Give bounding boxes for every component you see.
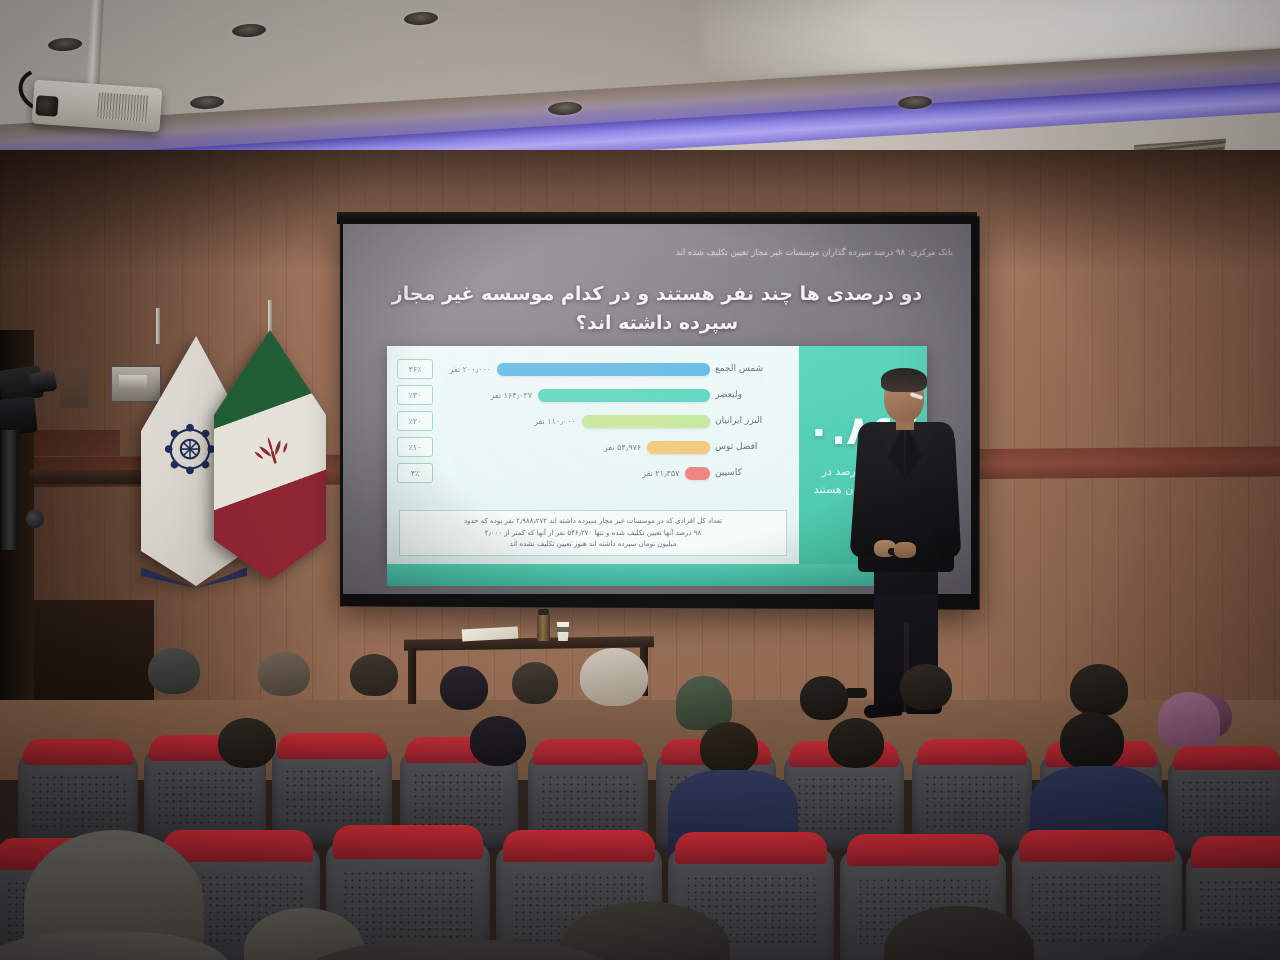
flagpole-iran (268, 300, 272, 332)
slide-title: دو درصدی ها چند نفر هستند و در کدام موسس… (377, 280, 937, 339)
audience-head (148, 648, 200, 694)
bar-label: افضل توس (710, 442, 789, 452)
bar-track: ١١٠٫٠٠٠ نفر (437, 415, 710, 428)
bar-row: ولیعصر ١۶۴٫٠٣٧ نفر ٣٠٪ (397, 384, 789, 406)
bar-count: ٢٠٠٫٠٠٠ نفر (449, 365, 491, 374)
cup-band (557, 627, 569, 632)
footnote-line-1: تعداد کل افرادی که در موسسات غیر مجاز سپ… (407, 516, 779, 527)
presenter-hair (881, 368, 927, 392)
camera-lens-icon (29, 370, 58, 393)
audience-head (1070, 664, 1128, 716)
bar-row: البرز ایرانیان ١١٠٫٠٠٠ نفر ٢٠٪ (397, 410, 789, 432)
audience-head (828, 718, 884, 768)
tripod-column (2, 430, 18, 550)
wall-right-shadow (960, 150, 1280, 710)
bar-percent-chip: ۴٪ (397, 463, 433, 483)
audience-head (350, 654, 398, 696)
projector-vent-grille (97, 92, 149, 121)
bar-label: البرز ایرانیان (710, 416, 789, 426)
bar-label: شمس الجمع (710, 364, 789, 374)
bar-label: ولیعصر (710, 390, 789, 400)
bar-percent-chip: ١٠٪ (397, 437, 433, 457)
bar-fill (647, 441, 710, 454)
bar-row: کاسپین ٢١٫٣۵٧ نفر ۴٪ (397, 462, 789, 484)
projector-lens (35, 95, 58, 116)
chart-footnote: تعداد کل افرادی که در موسسات غیر مجاز سپ… (399, 510, 787, 556)
presenter-arm-right (929, 429, 962, 558)
bar-fill (497, 363, 710, 376)
slide-title-line-2: سپرده داشته اند؟ (377, 309, 937, 338)
bar-percent-chip: ٣٠٪ (397, 385, 433, 405)
audience-head (258, 652, 310, 696)
slide-chart-card: ٪٠.٨۶ از این دو درصد در استان خراسان هست… (387, 346, 927, 564)
bar-label: کاسپین (710, 468, 789, 478)
audience-head (440, 666, 488, 710)
university-emblem-icon (159, 420, 221, 482)
audience-head (470, 716, 526, 766)
audience-head (218, 718, 276, 768)
audience-head (900, 664, 952, 710)
bar-fill (685, 467, 710, 480)
card-bottom-band (387, 564, 927, 586)
bar-track: ٢١٫٣۵٧ نفر (437, 467, 710, 480)
bar-track: ۵۴٫٩٧۶ نفر (437, 441, 710, 454)
bar-count: ٢١٫٣۵٧ نفر (642, 469, 679, 478)
audience-head (580, 648, 648, 706)
bar-track: ١۶۴٫٠٣٧ نفر (437, 389, 710, 402)
bar-fill (582, 415, 710, 428)
audience-head (512, 662, 558, 704)
audience-head (800, 676, 848, 720)
slide-kicker-text: بانک مرکزی: ۹۸ درصد سپرده گذاران موسسات … (573, 248, 953, 260)
bar-track: ٢٠٠٫٠٠٠ نفر (437, 363, 710, 376)
bar-percent-chip: ٢٠٪ (397, 411, 433, 431)
bar-chart: شمس الجمع ٢٠٠٫٠٠٠ نفر ٣۶٪ ولیعصر ١۶۴٫٠٣٧… (387, 346, 799, 564)
iran-flag (214, 330, 326, 582)
footnote-line-2: ۹۸ درصد آنها تعیین تکلیف شده و تنها ۵۴۶٫… (407, 528, 779, 539)
presenter-hand-right (894, 542, 916, 558)
bar-count: ١١٠٫٠٠٠ نفر (534, 417, 576, 426)
wall-recess (60, 360, 88, 408)
bar-row: افضل توس ۵۴٫٩٧۶ نفر ١٠٪ (397, 436, 789, 458)
bar-count: ١۶۴٫٠٣٧ نفر (490, 391, 532, 400)
bar-count: ۵۴٫٩٧۶ نفر (604, 443, 641, 452)
water-bottle-icon (537, 613, 550, 641)
audience-head (1060, 712, 1124, 770)
slide-title-line-1: دو درصدی ها چند نفر هستند و در کدام موسس… (377, 280, 937, 309)
bottle-cap (538, 609, 549, 615)
audience-area (0, 640, 1280, 960)
bar-percent-chip: ٣۶٪ (397, 359, 433, 379)
bar-row: شمس الجمع ٢٠٠٫٠٠٠ نفر ٣۶٪ (397, 358, 789, 380)
bar-fill (538, 389, 710, 402)
footnote-line-3: میلیون تومان سپرده داشته اند هنوز تعیین … (407, 539, 779, 550)
tripod-knob[interactable] (26, 510, 44, 528)
audience-head (700, 722, 758, 774)
audience-headscarf (1158, 692, 1220, 748)
conference-hall-photo: بانک مرکزی: ۹۸ درصد سپرده گذاران موسسات … (0, 0, 1280, 960)
